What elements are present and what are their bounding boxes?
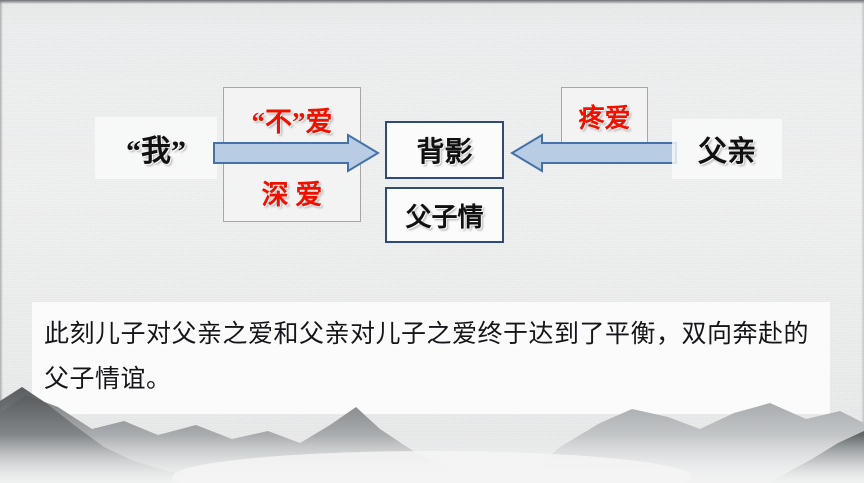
label-shen-ai: 深 爱 — [262, 173, 323, 212]
right-subject-box: 父亲 — [672, 119, 782, 179]
arrow-right-to-left — [506, 133, 678, 173]
top-edge-line — [0, 0, 864, 4]
center-box-fuziqing: 父子情 — [385, 187, 504, 243]
left-arrow-icon — [506, 133, 678, 173]
right-subject-label: 父亲 — [698, 128, 756, 170]
left-subject-box: “我” — [95, 117, 217, 179]
ink-wash-mountain-decoration — [0, 373, 864, 483]
label-tengai: 疼爱 — [578, 98, 630, 135]
center-box-beiying: 背影 — [385, 121, 504, 179]
center-label-fuziqing: 父子情 — [405, 197, 483, 234]
left-subject-label: “我” — [126, 126, 186, 170]
right-arrow-icon — [212, 133, 380, 173]
slide-canvas: “我” “不”爱 深 爱 背影 父子情 疼爱 父亲 此刻儿子对父亲之爱和父亲对儿… — [0, 0, 864, 483]
arrow-left-to-right — [212, 133, 380, 173]
mountains-icon — [0, 373, 864, 483]
center-label-beiying: 背影 — [416, 130, 472, 170]
